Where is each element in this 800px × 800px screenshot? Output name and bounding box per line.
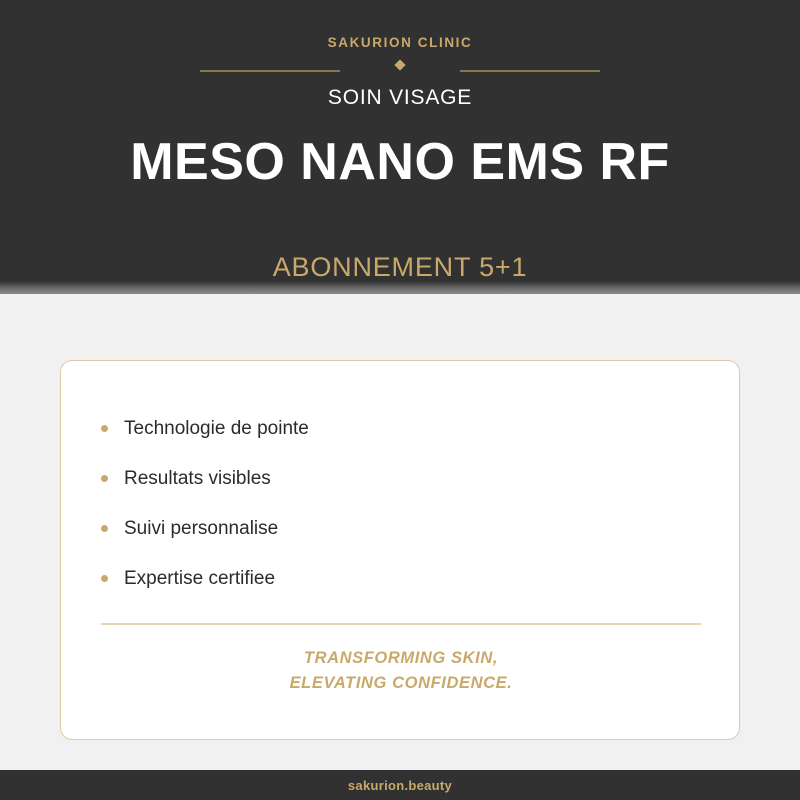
features-card: Technologie de pointe Resultats visibles…	[60, 360, 740, 740]
feature-label: Expertise certifiee	[124, 569, 275, 588]
diamond-icon	[394, 59, 405, 70]
tagline-line-1: TRANSFORMING SKIN,	[61, 646, 741, 671]
social-handle[interactable]: sakurion.beauty	[348, 779, 452, 792]
brand-name: SAKURION CLINIC	[328, 36, 473, 50]
feature-list: Technologie de pointe Resultats visibles…	[61, 361, 739, 603]
ornament-line-right	[460, 70, 600, 72]
list-item: Suivi personnalise	[101, 503, 739, 553]
promo-header: SAKURION CLINIC SOIN VISAGE MESO NANO EM…	[0, 0, 800, 294]
bullet-icon	[101, 475, 108, 482]
bullet-icon	[101, 575, 108, 582]
feature-label: Resultats visibles	[124, 469, 271, 488]
tagline-line-2: ELEVATING CONFIDENCE.	[61, 671, 741, 696]
card-divider	[101, 623, 701, 625]
list-item: Resultats visibles	[101, 453, 739, 503]
feature-label: Technologie de pointe	[124, 419, 309, 438]
header-gradient-fade	[0, 281, 800, 294]
feature-label: Suivi personnalise	[124, 519, 278, 538]
page-title: MESO NANO EMS RF	[130, 136, 670, 188]
ornament-line-left	[200, 70, 340, 72]
tagline: TRANSFORMING SKIN, ELEVATING CONFIDENCE.	[61, 646, 741, 696]
bullet-icon	[101, 525, 108, 532]
service-category: SOIN VISAGE	[328, 87, 472, 108]
list-item: Technologie de pointe	[101, 403, 739, 453]
bullet-icon	[101, 425, 108, 432]
subscription-label: ABONNEMENT 5+1	[273, 254, 528, 281]
list-item: Expertise certifiee	[101, 553, 739, 603]
header-content: SAKURION CLINIC SOIN VISAGE MESO NANO EM…	[0, 0, 800, 281]
footer-bar: sakurion.beauty	[0, 770, 800, 800]
